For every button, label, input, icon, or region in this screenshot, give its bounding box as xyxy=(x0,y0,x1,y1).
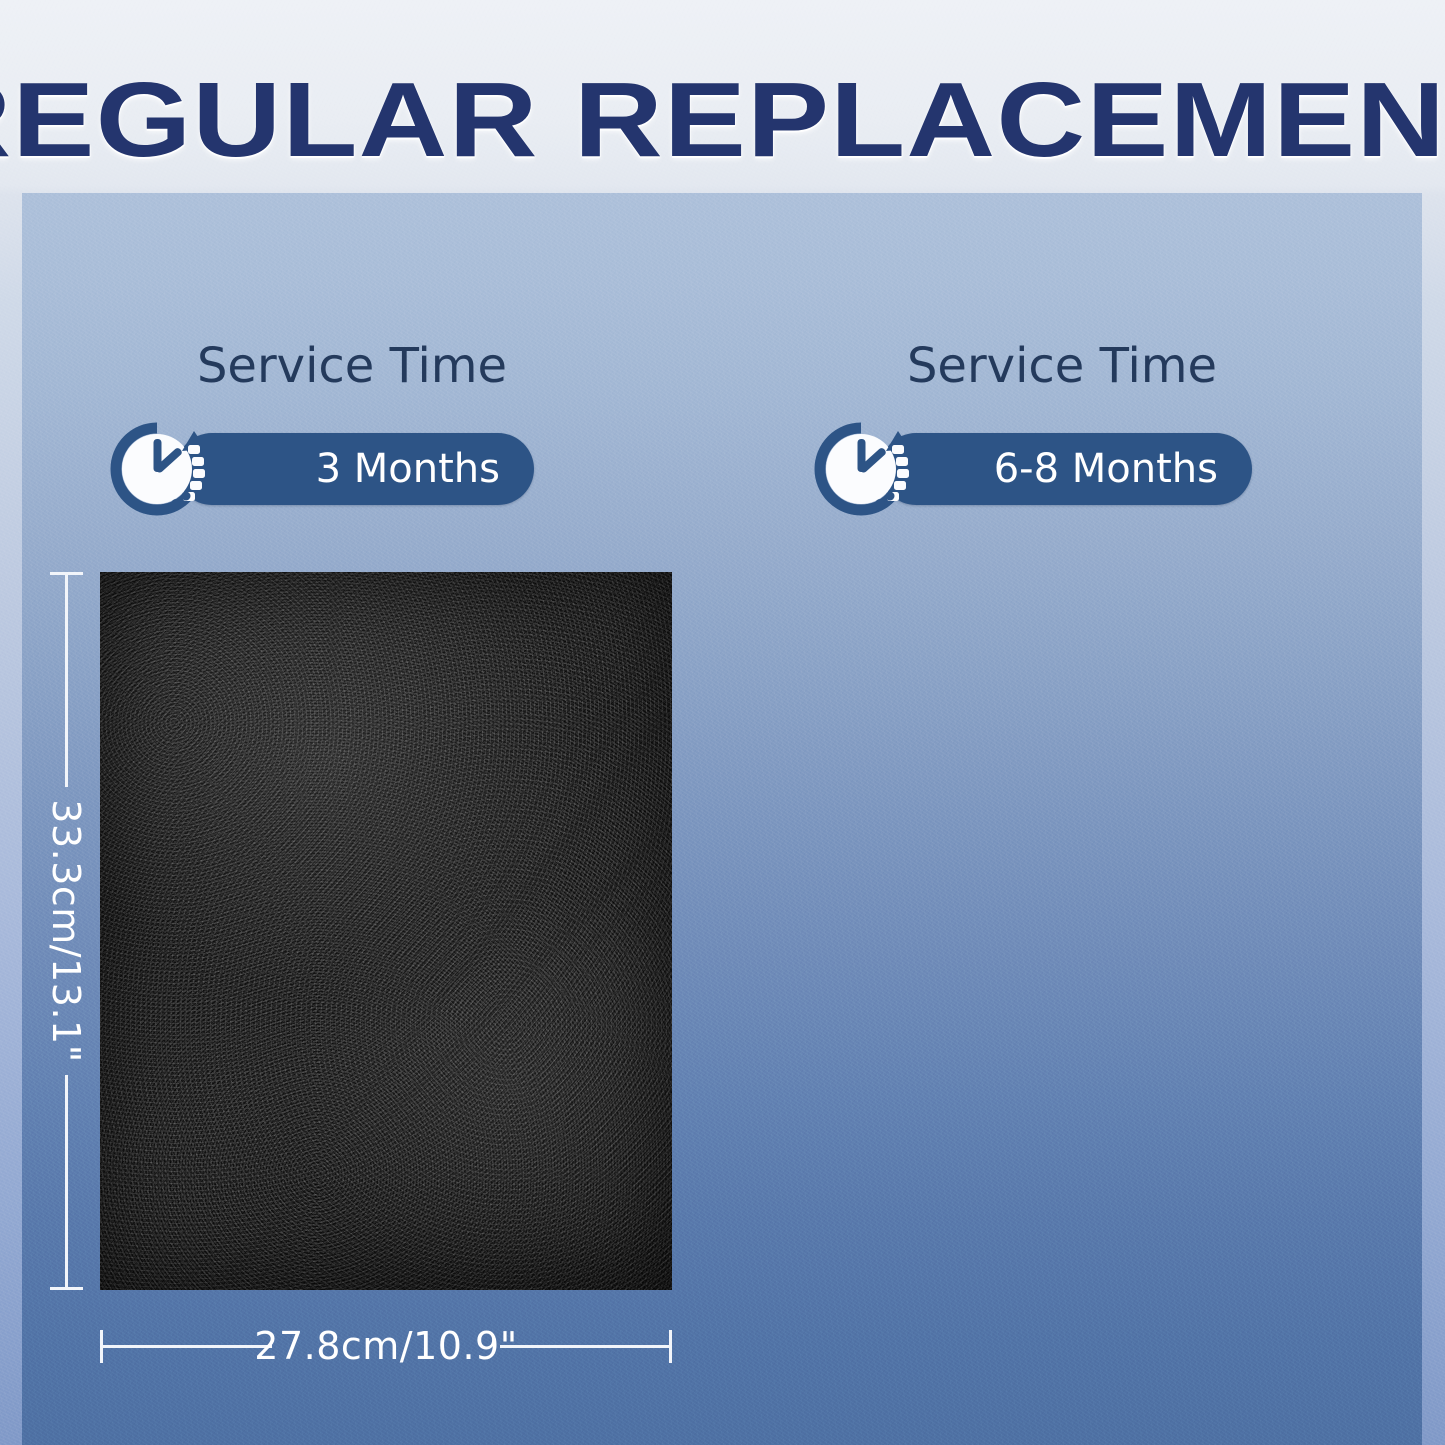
clock-refresh-icon xyxy=(814,419,914,519)
clock-refresh-icon xyxy=(110,419,210,519)
height-dimension-label: 33.3cm/13.1" xyxy=(45,799,87,1062)
activated-carbon-filter-image xyxy=(100,572,672,1290)
height-dimension-left: 33.3cm/13.1" xyxy=(49,572,83,1290)
service-time-value: 3 Months xyxy=(176,433,534,505)
service-time-label: Service Time xyxy=(722,338,1422,394)
column-carbon-filter: Service Time xyxy=(22,193,722,1445)
width-dimension-left: 27.8cm/10.9" xyxy=(100,1329,672,1363)
column-hepa-filter: Service Time xyxy=(722,193,1422,1445)
dimension-cap-right xyxy=(669,1330,672,1363)
carbon-filter-texture xyxy=(100,572,672,1290)
dimension-rail-top xyxy=(65,572,68,787)
content-panel: Service Time xyxy=(22,193,1422,1445)
dimension-cap-bottom xyxy=(50,1287,83,1290)
dimension-rail-bottom xyxy=(65,1075,68,1290)
service-time-value: 6-8 Months xyxy=(880,433,1252,505)
service-time-badge: 6-8 Months xyxy=(814,419,1252,519)
service-time-badge: 3 Months xyxy=(110,419,534,519)
infographic-canvas: REGULAR REPLACEMENT Service Time xyxy=(0,0,1445,1445)
service-time-label: Service Time xyxy=(22,338,722,394)
dimension-segment-right xyxy=(500,1345,670,1348)
page-title: REGULAR REPLACEMENT xyxy=(0,64,1445,176)
